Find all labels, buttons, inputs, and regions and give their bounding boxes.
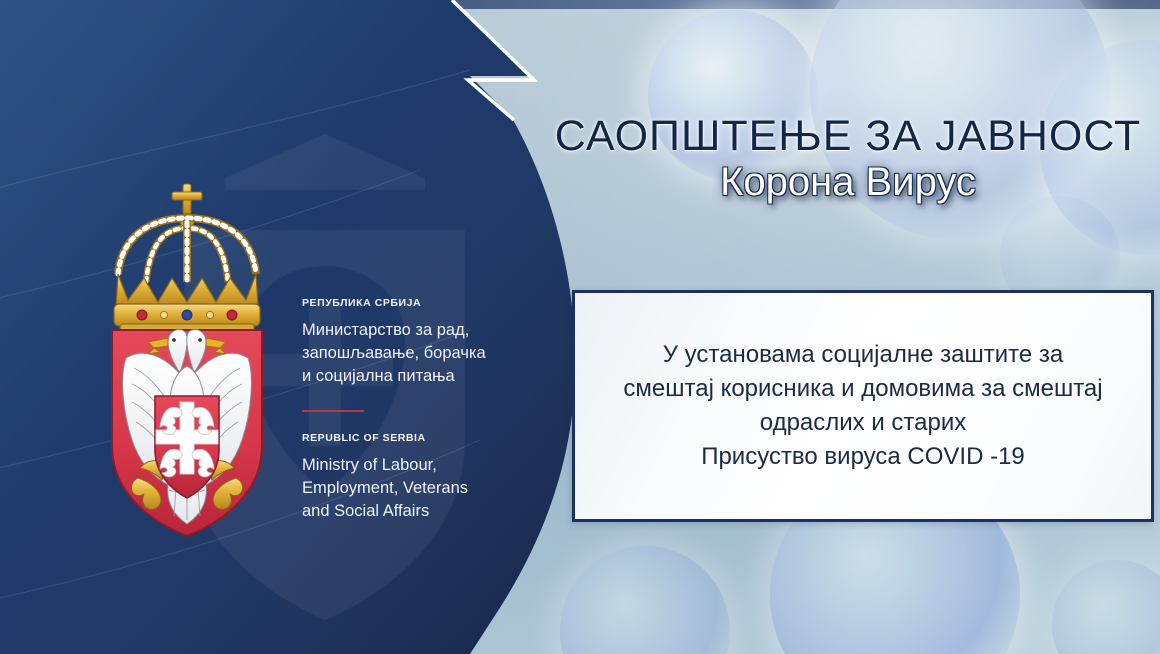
republic-label-en: REPUBLIC OF SERBIA <box>302 432 512 444</box>
statement-line-3: одраслих и старих <box>623 406 1102 440</box>
ministry-name-sr-line1: Министарство за рад, <box>302 319 512 342</box>
statement-callout-box: У установама социјалне заштите за смешта… <box>572 290 1154 522</box>
royal-crown <box>114 184 260 332</box>
headline-secondary: Корона Вирус <box>548 158 1148 206</box>
ministry-name-sr: Министарство за рад, запошљавање, борачк… <box>302 319 512 388</box>
headline-primary: САОПШТЕЊЕ ЗА ЈАВНОСТ <box>548 113 1148 160</box>
ministry-name-sr-line2: запошљавање, борачка <box>302 342 512 365</box>
statement-line-1: У установама социјалне заштите за <box>623 338 1102 372</box>
ministry-name-en-line1: Ministry of Labour, <box>302 454 512 477</box>
republic-label-sr: РЕПУБЛИКА СРБИЈА <box>302 296 512 310</box>
statement-line-4: Присуство вируса COVID -19 <box>623 440 1102 474</box>
ministry-lockup: РЕПУБЛИКА СРБИЈА Министарство за рад, за… <box>302 296 512 523</box>
ministry-name-en-line3: and Social Affairs <box>302 500 512 523</box>
ministry-name-sr-line3: и социјална питања <box>302 365 512 388</box>
divider-rule <box>302 410 364 412</box>
press-release-banner: РЕПУБЛИКА СРБИЈА Министарство за рад, за… <box>0 0 1160 654</box>
ministry-name-en: Ministry of Labour, Employment, Veterans… <box>302 454 512 523</box>
headline-block: САОПШТЕЊЕ ЗА ЈАВНОСТ Корона Вирус <box>548 113 1148 206</box>
statement-text: У установама социјалне заштите за смешта… <box>607 338 1118 474</box>
ministry-name-en-line2: Employment, Veterans <box>302 477 512 500</box>
serbian-coat-of-arms <box>98 178 276 540</box>
statement-line-2: смештај корисника и домовима за смештај <box>623 372 1102 406</box>
